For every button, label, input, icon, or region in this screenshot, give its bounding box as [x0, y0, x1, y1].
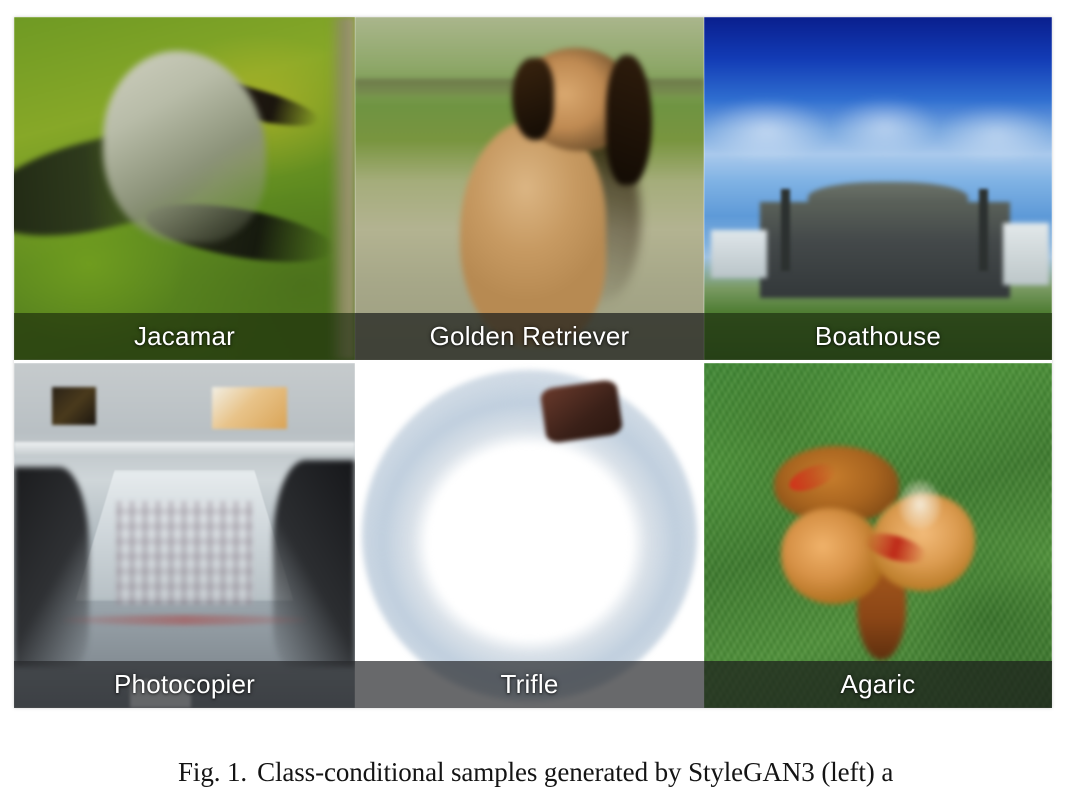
dog-ear-left-shape	[512, 58, 554, 140]
boathouse-image	[704, 17, 1052, 360]
cream-specks-shape	[397, 404, 669, 687]
sample-label-golden-retriever: Golden Retriever	[355, 313, 704, 360]
sample-tile-boathouse[interactable]: Boathouse	[704, 17, 1052, 360]
golden-retriever-image	[355, 17, 704, 360]
sample-tile-trifle[interactable]: Trifle	[355, 363, 704, 708]
sample-tile-agaric[interactable]: Agaric	[704, 363, 1052, 708]
figure-caption-number: Fig. 1.	[178, 757, 247, 787]
sample-label-boathouse: Boathouse	[704, 313, 1052, 360]
dark-region-left-shape	[14, 467, 89, 667]
control-panel-shape	[52, 387, 96, 425]
mushroom-cap-left-shape	[781, 508, 885, 605]
sample-label-trifle: Trifle	[355, 661, 704, 708]
machine-top-bar-shape	[14, 442, 355, 456]
trifle-image	[355, 363, 704, 708]
white-structure-right-shape	[1003, 223, 1048, 285]
cloud-band-shape	[704, 92, 1052, 167]
grid-row-bottom: Photocopier Trifle	[14, 363, 1052, 708]
figure-page: Jacamar Golden Retriever	[0, 0, 1080, 804]
figure-caption-text: Class-conditional samples generated by S…	[257, 757, 893, 787]
post-right-shape	[979, 189, 988, 271]
white-structure-left-shape	[711, 230, 767, 278]
photocopier-image	[14, 363, 355, 708]
bird-bill-shape	[163, 67, 323, 135]
building-body-shape	[760, 202, 1011, 298]
display-screen-shape	[212, 387, 287, 428]
agaric-image	[704, 363, 1052, 708]
dark-region-right-shape	[273, 460, 355, 667]
jacamar-image	[14, 17, 355, 360]
paper-texture-shape	[116, 501, 252, 605]
sample-label-photocopier: Photocopier	[14, 661, 355, 708]
figure-caption: Fig. 1.Class-conditional samples generat…	[178, 757, 1080, 788]
mushroom-highlight-shape	[899, 480, 941, 528]
sample-tile-golden-retriever[interactable]: Golden Retriever	[355, 17, 704, 360]
dog-ear-right-shape	[606, 55, 651, 185]
foliage-edge-shape	[328, 17, 355, 360]
red-accent-line-shape	[62, 615, 308, 625]
grid-row-top: Jacamar Golden Retriever	[14, 17, 1052, 360]
sample-label-jacamar: Jacamar	[14, 313, 355, 360]
sample-tile-photocopier[interactable]: Photocopier	[14, 363, 355, 708]
sample-image-grid: Jacamar Golden Retriever	[14, 17, 1052, 708]
sample-tile-jacamar[interactable]: Jacamar	[14, 17, 355, 360]
bird-tail-shape	[141, 193, 337, 273]
post-left-shape	[781, 189, 790, 271]
sample-label-agaric: Agaric	[704, 661, 1052, 708]
